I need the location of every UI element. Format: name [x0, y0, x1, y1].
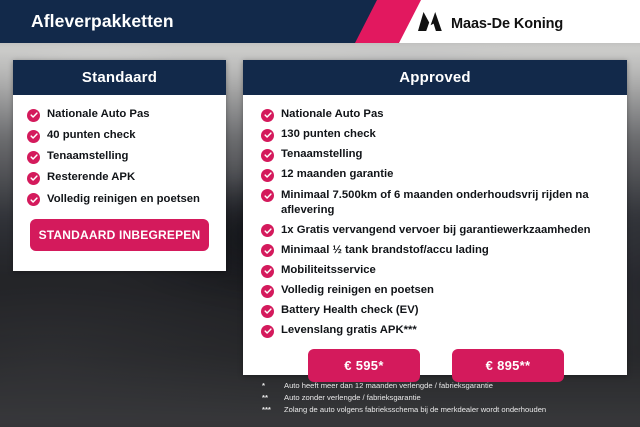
check-circle-icon	[27, 151, 40, 164]
list-item: Volledig reinigen en poetsen	[261, 283, 611, 298]
list-item: Levenslang gratis APK***	[261, 323, 611, 338]
feature-label: Nationale Auto Pas	[47, 107, 150, 122]
check-circle-icon	[27, 193, 40, 206]
feature-label: Nationale Auto Pas	[281, 107, 384, 122]
list-item: Volledig reinigen en poetsen	[27, 192, 212, 207]
feature-label: Minimaal 7.500km of 6 maanden onderhouds…	[281, 188, 611, 218]
feature-label: 40 punten check	[47, 128, 136, 143]
check-circle-icon	[261, 189, 274, 202]
check-circle-icon	[27, 109, 40, 122]
card-header-approved: Approved	[243, 60, 627, 95]
footnote-list: * Auto heeft meer dan 12 maanden verleng…	[262, 381, 632, 416]
list-item: Tenaamstelling	[27, 149, 212, 164]
page-title: Afleverpakketten	[31, 11, 174, 32]
page-header: Afleverpakketten Maas-De Koning	[0, 0, 640, 43]
feature-label: Minimaal ½ tank brandstof/accu lading	[281, 243, 489, 258]
feature-list-standaard: Nationale Auto Pas 40 punten check Tenaa…	[27, 107, 212, 207]
check-circle-icon	[261, 305, 274, 318]
footnote-marker: ***	[262, 405, 284, 414]
price-button-595[interactable]: € 595*	[308, 349, 420, 382]
check-circle-icon	[261, 224, 274, 237]
feature-label: 130 punten check	[281, 127, 376, 142]
package-card-approved: Approved Nationale Auto Pas 130 punten c…	[243, 60, 627, 375]
card-header-standaard: Standaard	[13, 60, 226, 95]
check-circle-icon	[261, 169, 274, 182]
standaard-inbegrepen-button[interactable]: STANDAARD INBEGREPEN	[30, 219, 209, 251]
list-item: Resterende APK	[27, 170, 212, 185]
footnote-text: Zolang de auto volgens fabrieksschema bi…	[284, 405, 546, 415]
brand-lockup: Maas-De Koning	[417, 11, 563, 37]
feature-list-approved: Nationale Auto Pas 130 punten check Tena…	[261, 107, 611, 339]
check-circle-icon	[261, 265, 274, 278]
feature-label: 1x Gratis vervangend vervoer bij garanti…	[281, 223, 591, 238]
check-circle-icon	[261, 129, 274, 142]
footnote-row: *** Zolang de auto volgens fabrieksschem…	[262, 405, 632, 415]
feature-label: Battery Health check (EV)	[281, 303, 419, 318]
feature-label: Tenaamstelling	[281, 147, 362, 162]
footnote-row: ** Auto zonder verlengde / fabrieksgaran…	[262, 393, 632, 403]
footnote-text: Auto heeft meer dan 12 maanden verlengde…	[284, 381, 493, 391]
check-circle-icon	[261, 325, 274, 338]
check-circle-icon	[27, 130, 40, 143]
feature-label: Volledig reinigen en poetsen	[281, 283, 434, 298]
footnote-marker: **	[262, 393, 284, 402]
price-button-895[interactable]: € 895**	[452, 349, 564, 382]
list-item: Battery Health check (EV)	[261, 303, 611, 318]
feature-label: Mobiliteitsservice	[281, 263, 376, 278]
list-item: Minimaal 7.500km of 6 maanden onderhouds…	[261, 188, 611, 218]
list-item: 40 punten check	[27, 128, 212, 143]
price-button-row: € 595* € 895**	[261, 349, 611, 382]
check-circle-icon	[261, 244, 274, 257]
feature-label: Volledig reinigen en poetsen	[47, 192, 200, 207]
list-item: 1x Gratis vervangend vervoer bij garanti…	[261, 223, 611, 238]
check-circle-icon	[261, 109, 274, 122]
list-item: Mobiliteitsservice	[261, 263, 611, 278]
check-circle-icon	[261, 285, 274, 298]
list-item: Tenaamstelling	[261, 147, 611, 162]
card-title-standaard: Standaard	[82, 69, 157, 86]
footnote-row: * Auto heeft meer dan 12 maanden verleng…	[262, 381, 632, 391]
card-body-standaard: Nationale Auto Pas 40 punten check Tenaa…	[13, 95, 226, 251]
card-body-approved: Nationale Auto Pas 130 punten check Tena…	[243, 95, 627, 382]
package-card-standaard: Standaard Nationale Auto Pas 40 punten c…	[13, 60, 226, 271]
list-item: Nationale Auto Pas	[261, 107, 611, 122]
list-item: Minimaal ½ tank brandstof/accu lading	[261, 243, 611, 258]
brand-name: Maas-De Koning	[451, 16, 563, 32]
card-title-approved: Approved	[399, 69, 471, 86]
footnote-marker: *	[262, 381, 284, 390]
check-circle-icon	[261, 149, 274, 162]
check-circle-icon	[27, 172, 40, 185]
maas-de-koning-m-logo-icon	[417, 11, 443, 37]
list-item: Nationale Auto Pas	[27, 107, 212, 122]
feature-label: Resterende APK	[47, 170, 135, 185]
list-item: 12 maanden garantie	[261, 167, 611, 182]
slide-root: Afleverpakketten Maas-De Koning Standaar…	[0, 0, 640, 427]
footnote-text: Auto zonder verlengde / fabrieksgarantie	[284, 393, 421, 403]
feature-label: Tenaamstelling	[47, 149, 128, 164]
feature-label: 12 maanden garantie	[281, 167, 393, 182]
feature-label: Levenslang gratis APK***	[281, 323, 417, 338]
list-item: 130 punten check	[261, 127, 611, 142]
